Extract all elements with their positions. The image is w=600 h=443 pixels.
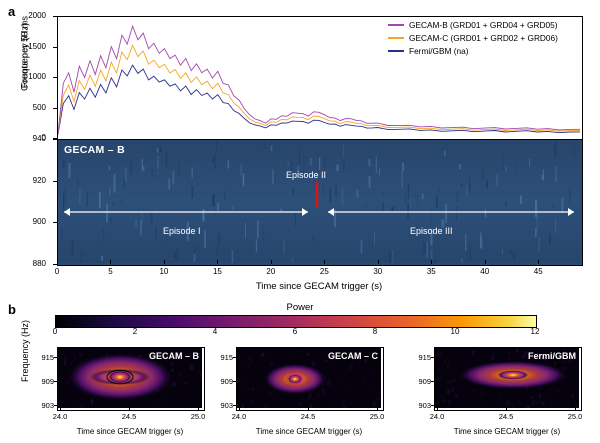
panel-b-y-tick: 915	[410, 353, 431, 362]
tick-mark	[485, 260, 486, 264]
panel-b: b Power 024681012 Frequency (Hz) GECAM –…	[0, 300, 600, 443]
tick-mark	[53, 264, 57, 265]
panel-b-x-tick: 25.0	[364, 412, 390, 421]
panel-a-x-tick: 45	[523, 267, 553, 276]
legend: GECAM-B (GRD01 + GRD04 + GRD05) GECAM-C …	[388, 20, 558, 59]
tick-mark	[60, 408, 61, 411]
tick-mark	[54, 381, 57, 382]
tick-mark	[164, 260, 165, 264]
colorbar-tick: 6	[285, 327, 305, 336]
spectrogram-y-tick: 920	[0, 176, 46, 185]
panel-b-y-tick: 903	[212, 401, 233, 410]
legend-item-gecam-b: GECAM-B (GRD01 + GRD04 + GRD05)	[388, 20, 558, 30]
panel-b-y-tick: 903	[33, 401, 54, 410]
legend-label-fermi-gbm: Fermi/GBM (na)	[409, 46, 468, 56]
colorbar-title: Power	[0, 302, 600, 313]
legend-item-fermi-gbm: Fermi/GBM (na)	[388, 46, 558, 56]
panel-b-x-tick: 24.0	[424, 412, 450, 421]
panel-a-x-tick: 5	[95, 267, 125, 276]
panel-b-x-tick: 25.0	[185, 412, 211, 421]
panel-b-y-tick: 915	[33, 353, 54, 362]
annotation-episode-2: Episode II	[286, 170, 326, 180]
tick-mark	[271, 260, 272, 264]
panel-a-x-tick: 0	[42, 267, 72, 276]
panel-a: a Counts per 50 ms GECAM-B (GRD01 + GRD0…	[0, 0, 600, 300]
light-curve-y-tick: 500	[0, 103, 46, 112]
panel-b-y-tick: 909	[410, 377, 431, 386]
panel-b-x-tick: 24.5	[493, 412, 519, 421]
subplot-2-x-axis-title: Time since GECAM trigger (s)	[236, 427, 382, 436]
tick-mark	[324, 260, 325, 264]
light-curve-y-tick: 2000	[0, 11, 46, 20]
tick-mark	[129, 408, 130, 411]
annotation-episode-1: Episode I	[163, 226, 201, 236]
panel-b-y-tick: 903	[410, 401, 431, 410]
tick-mark	[53, 47, 57, 48]
panel-b-y-tick: 915	[212, 353, 233, 362]
panel-a-x-tick: 25	[309, 267, 339, 276]
panel-b-x-tick: 24.5	[116, 412, 142, 421]
panel-b-x-tick: 24.0	[226, 412, 252, 421]
legend-item-gecam-c: GECAM-C (GRD01 + GRD02 + GRD06)	[388, 33, 558, 43]
spectrogram-gecam-b: GECAM – B Episode I Episode II Episode I…	[57, 139, 583, 266]
annotation-episode-3: Episode III	[410, 226, 453, 236]
tick-mark	[308, 408, 309, 411]
tick-mark	[233, 405, 236, 406]
panel-a-x-tick: 30	[363, 267, 393, 276]
tick-mark	[506, 408, 507, 411]
panel-b-x-tick: 24.0	[47, 412, 73, 421]
panel-a-x-axis-title: Time since GECAM trigger (s)	[57, 281, 581, 292]
panel-a-x-tick: 20	[256, 267, 286, 276]
tick-mark	[239, 408, 240, 411]
light-curve-y-tick: 1500	[0, 42, 46, 51]
tick-mark	[110, 260, 111, 264]
tick-mark	[233, 381, 236, 382]
panel-a-x-tick: 10	[149, 267, 179, 276]
tick-mark	[538, 260, 539, 264]
colorbar-tick: 8	[365, 327, 385, 336]
tick-mark	[57, 260, 58, 264]
colorbar-tick: 12	[525, 327, 545, 336]
panel-b-y-axis-title: Frequency (Hz)	[20, 286, 30, 416]
tick-mark	[54, 405, 57, 406]
tick-mark	[377, 408, 378, 411]
tick-mark	[233, 357, 236, 358]
subplot-1-x-axis-title: Time since GECAM trigger (s)	[57, 427, 203, 436]
tick-mark	[53, 222, 57, 223]
tick-mark	[575, 408, 576, 411]
spectrogram-y-tick: 880	[0, 259, 46, 268]
spectrogram-title: GECAM – B	[64, 144, 125, 156]
colorbar-tick: 2	[125, 327, 145, 336]
subplot-gecam-c-title: GECAM – C	[328, 351, 378, 361]
subplot-gecam-b-title: GECAM – B	[149, 351, 199, 361]
spectrogram-y-tick: 940	[0, 134, 46, 143]
panel-a-x-tick: 15	[202, 267, 232, 276]
tick-mark	[378, 260, 379, 264]
subplot-gecam-c: GECAM – C	[236, 347, 384, 411]
spectrogram-image	[58, 140, 580, 263]
tick-mark	[53, 16, 57, 17]
panel-a-x-tick: 40	[470, 267, 500, 276]
light-curve-y-tick: 1000	[0, 72, 46, 81]
legend-label-gecam-b: GECAM-B (GRD01 + GRD04 + GRD05)	[409, 20, 557, 30]
legend-swatch-fermi-gbm	[388, 50, 404, 52]
tick-mark	[431, 405, 434, 406]
subplot-gecam-b: GECAM – B	[57, 347, 205, 411]
legend-swatch-gecam-b	[388, 24, 404, 26]
spectrogram-y-tick: 900	[0, 217, 46, 226]
colorbar-tick: 10	[445, 327, 465, 336]
subplot-fermi-gbm: Fermi/GBM	[434, 347, 582, 411]
tick-mark	[217, 260, 218, 264]
legend-label-gecam-c: GECAM-C (GRD01 + GRD02 + GRD06)	[409, 33, 558, 43]
tick-mark	[431, 260, 432, 264]
tick-mark	[431, 357, 434, 358]
colorbar-tick: 0	[45, 327, 65, 336]
tick-mark	[54, 357, 57, 358]
panel-a-x-tick: 35	[416, 267, 446, 276]
colorbar-tick: 4	[205, 327, 225, 336]
panel-b-x-tick: 25.0	[562, 412, 588, 421]
tick-mark	[53, 77, 57, 78]
panel-b-y-tick: 909	[33, 377, 54, 386]
legend-swatch-gecam-c	[388, 37, 404, 39]
tick-mark	[53, 139, 57, 140]
subplot-3-x-axis-title: Time since GECAM trigger (s)	[434, 427, 580, 436]
panel-b-y-tick: 909	[212, 377, 233, 386]
tick-mark	[437, 408, 438, 411]
tick-mark	[431, 381, 434, 382]
tick-mark	[53, 108, 57, 109]
tick-mark	[53, 181, 57, 182]
subplot-fermi-gbm-title: Fermi/GBM	[528, 351, 576, 361]
tick-mark	[198, 408, 199, 411]
panel-b-x-tick: 24.5	[295, 412, 321, 421]
